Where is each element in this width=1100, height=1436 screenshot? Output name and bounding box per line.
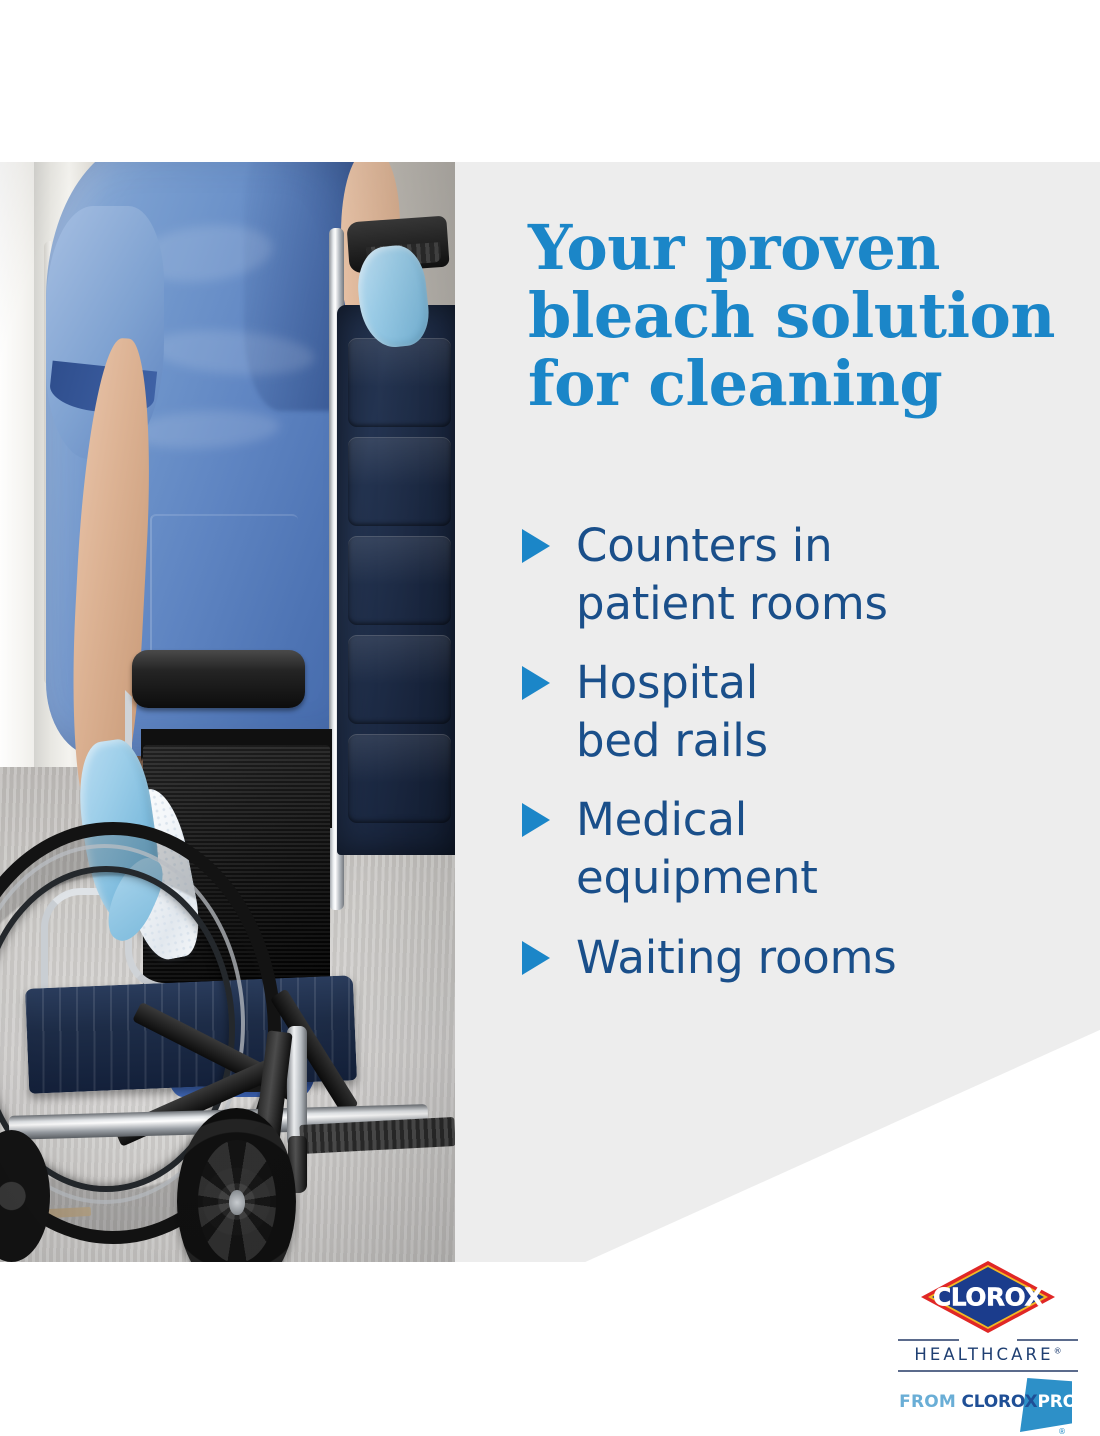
cloroxpro-brand: CLOROX: [961, 1392, 1037, 1412]
benefit-list: Counters in patient rooms Hospital bed r…: [522, 517, 1082, 1008]
triangle-right-icon: [522, 941, 550, 975]
castor-hub-bolt: [229, 1190, 244, 1214]
list-item-label: Hospital bed rails: [576, 654, 768, 769]
list-item-line: Medical: [576, 793, 747, 846]
cloroxpro-wordmark: FROM CLOROXPRO: [898, 1392, 1078, 1412]
registered-mark: ®: [1058, 1427, 1066, 1436]
list-item-label: Medical equipment: [576, 791, 818, 906]
photo-composition: [0, 162, 455, 1262]
healthcare-label: HEALTHCARE: [914, 1345, 1053, 1364]
triangle-right-icon: [522, 666, 550, 700]
list-item-line: bed rails: [576, 714, 768, 767]
clorox-wordmark: CLOROX: [921, 1283, 1055, 1312]
list-item-line: equipment: [576, 851, 818, 904]
list-item: Hospital bed rails: [522, 654, 1082, 769]
headline-line-2: bleach solution: [528, 282, 1084, 350]
wheelchair-armrest-pad: [132, 650, 305, 707]
list-item-line: Waiting rooms: [576, 931, 897, 984]
backrest-seam: [348, 536, 451, 625]
divider-top: [898, 1339, 1078, 1341]
registered-mark: ®: [1054, 1347, 1062, 1356]
list-item-line: Counters in: [576, 519, 832, 572]
list-item: Waiting rooms: [522, 929, 1082, 987]
triangle-right-icon: [522, 529, 550, 563]
wheelchair-backrest: [337, 305, 455, 855]
backrest-seam: [348, 338, 451, 427]
page-title: Your proven bleach solution for cleaning: [528, 214, 1084, 419]
ad-canvas: Your proven bleach solution for cleaning…: [0, 0, 1100, 1422]
cloroxpro-suffix: PRO: [1037, 1392, 1076, 1412]
cloroxpro-endorsement: FROM CLOROXPRO ®: [898, 1378, 1078, 1432]
backrest-seam: [348, 635, 451, 724]
backrest-seam: [348, 437, 451, 526]
clorox-healthcare-logo: CLOROX HEALTHCARE® FROM CLOROXPRO ®: [898, 1261, 1078, 1432]
list-item-line: Hospital: [576, 656, 758, 709]
list-item-label: Counters in patient rooms: [576, 517, 888, 632]
healthcare-wordmark: HEALTHCARE®: [898, 1345, 1078, 1364]
scrub-pocket: [150, 514, 298, 670]
headline-line-3: for cleaning: [528, 350, 1084, 418]
wheelchair-cleaning-photo: [0, 162, 455, 1262]
backrest-seam: [348, 734, 451, 823]
list-item-label: Waiting rooms: [576, 929, 897, 987]
clorox-diamond-icon: CLOROX: [921, 1261, 1055, 1333]
divider-bottom: [898, 1370, 1078, 1372]
from-label: FROM: [899, 1392, 956, 1412]
ad-artboard: Your proven bleach solution for cleaning…: [0, 162, 1100, 1262]
list-item-line: patient rooms: [576, 577, 888, 630]
triangle-right-icon: [522, 803, 550, 837]
healthcare-lockup: HEALTHCARE®: [898, 1338, 1078, 1368]
list-item: Counters in patient rooms: [522, 517, 1082, 632]
list-item: Medical equipment: [522, 791, 1082, 906]
headline-line-1: Your proven: [528, 214, 1084, 282]
